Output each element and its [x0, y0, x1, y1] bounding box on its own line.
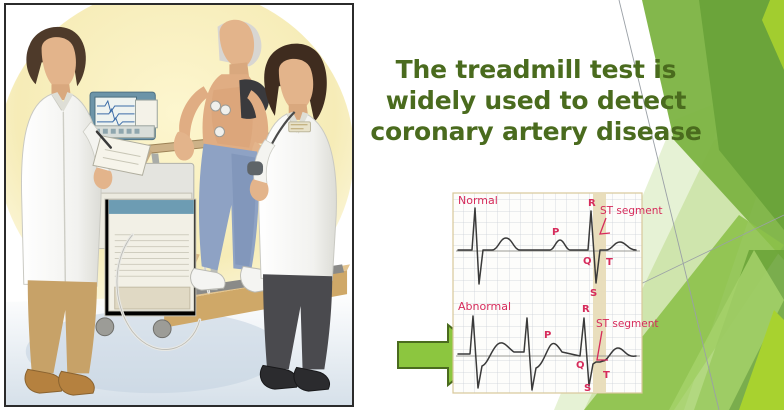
abnormal-t-label: T	[603, 370, 610, 381]
cart-foot	[115, 287, 190, 309]
normal-q-label: Q	[583, 256, 592, 267]
clinician-left-coat	[21, 94, 101, 286]
name-badge	[289, 122, 311, 132]
treadmill-stress-test-illustration	[4, 3, 354, 407]
normal-t-label: T	[606, 257, 613, 268]
ecg-monitor-screen	[95, 97, 137, 129]
decor-light-green-1	[669, 250, 784, 410]
normal-st-segment-label: ST segment	[600, 205, 662, 217]
clinician-right-coat	[259, 114, 337, 280]
ecg-grid-background	[453, 193, 642, 393]
cart-tray-band	[109, 200, 194, 214]
abnormal-r-label: R	[582, 304, 590, 315]
normal-r-label: R	[588, 198, 596, 209]
abnormal-label: Abnormal	[458, 300, 511, 313]
ecg-svg: Normal P Q R S T ST segment Abnormal P Q…	[440, 188, 680, 398]
abnormal-p-label: P	[544, 330, 551, 341]
slide-canvas: The treadmill test is widely used to det…	[0, 0, 784, 410]
normal-label: Normal	[458, 194, 498, 207]
illustration-svg	[6, 5, 352, 405]
abnormal-s-label: S	[584, 383, 591, 394]
monitor-extension	[136, 100, 158, 128]
title-line-1: The treadmill test is	[360, 54, 712, 85]
cart-wheel-right	[153, 320, 171, 338]
normal-p-label: P	[552, 227, 559, 238]
title-line-3: coronary artery disease	[360, 116, 712, 147]
page-title: The treadmill test is widely used to det…	[360, 54, 712, 147]
normal-s-label: S	[590, 288, 597, 299]
decor-lime-wedge	[739, 310, 784, 410]
cart-wheel-left	[96, 318, 114, 336]
abnormal-st-segment-label: ST segment	[596, 318, 658, 330]
abnormal-q-label: Q	[576, 360, 585, 371]
bp-bulb	[247, 161, 263, 175]
ecg-comparison-figure: Normal P Q R S T ST segment Abnormal P Q…	[440, 188, 680, 398]
title-line-2: widely used to detect	[360, 85, 712, 116]
decor-lime-top	[762, 0, 784, 70]
decor-dark-green-2	[694, 250, 784, 410]
